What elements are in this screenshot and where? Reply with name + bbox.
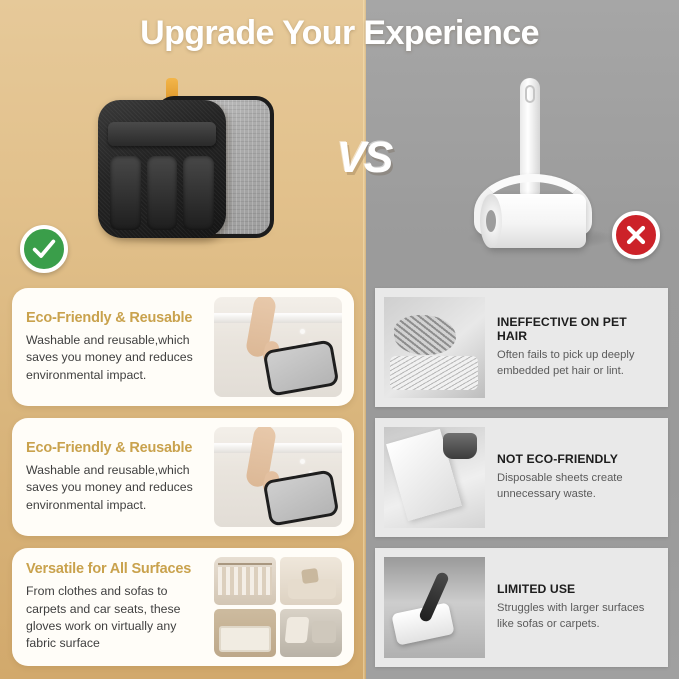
hero-image-glove	[92, 78, 276, 246]
roller-on-carpet-image	[384, 557, 485, 658]
clothes-rack-image	[214, 557, 276, 605]
check-icon	[20, 225, 68, 273]
glove-finger-pockets	[110, 156, 214, 230]
pro-card-body: Washable and reusable,which saves you mo…	[26, 332, 208, 384]
pros-card-list: Eco-Friendly & Reusable Washable and reu…	[12, 288, 354, 666]
rug-image	[214, 609, 276, 657]
comparison-infographic: Upgrade Your Experience VS	[0, 0, 679, 679]
pro-card-title: Eco-Friendly & Reusable	[26, 310, 208, 326]
con-card-text: LIMITED USE Struggles with larger surfac…	[485, 582, 659, 633]
roller-end-cap	[480, 194, 502, 248]
hero-image-lint-roller	[452, 78, 622, 254]
con-card-title: NOT ECO-FRIENDLY	[497, 452, 655, 466]
sofa-image	[280, 557, 342, 605]
con-card-body: Struggles with larger surfaces like sofa…	[497, 601, 655, 633]
glove-strap	[108, 122, 216, 146]
con-card-body: Disposable sheets create unnecessary was…	[497, 471, 655, 503]
vs-label: VS	[322, 133, 406, 183]
car-seats-image	[280, 609, 342, 657]
pro-card-title: Versatile for All Surfaces	[26, 561, 208, 577]
bubble	[300, 329, 305, 334]
mitt-in-water-image	[214, 427, 342, 527]
pro-card-text: Eco-Friendly & Reusable Washable and reu…	[26, 440, 214, 514]
con-card-text: INEFFECTIVE ON PET HAIR Often fails to p…	[485, 315, 659, 380]
waterline	[214, 313, 342, 323]
pro-card-text: Eco-Friendly & Reusable Washable and reu…	[26, 310, 214, 384]
pro-card-title: Eco-Friendly & Reusable	[26, 440, 208, 456]
waterline	[214, 443, 342, 453]
pro-card: Versatile for All Surfaces From clothes …	[12, 548, 354, 666]
roller-hang-loop	[525, 85, 535, 103]
con-card: LIMITED USE Struggles with larger surfac…	[375, 548, 668, 667]
mitt-in-water-image	[214, 297, 342, 397]
cat-on-fabric-image	[384, 297, 485, 398]
pro-card: Eco-Friendly & Reusable Washable and reu…	[12, 288, 354, 406]
pro-card: Eco-Friendly & Reusable Washable and reu…	[12, 418, 354, 536]
bubble	[300, 459, 305, 464]
con-card-title: INEFFECTIVE ON PET HAIR	[497, 315, 655, 343]
glove-black-body	[98, 100, 226, 238]
surface-collage-image	[214, 557, 342, 657]
pro-card-body: From clothes and sofas to carpets and ca…	[26, 583, 208, 653]
con-card-title: LIMITED USE	[497, 582, 655, 596]
pro-card-body: Washable and reusable,which saves you mo…	[26, 462, 208, 514]
con-card: INEFFECTIVE ON PET HAIR Often fails to p…	[375, 288, 668, 407]
con-card-body: Often fails to pick up deeply embedded p…	[497, 348, 655, 380]
disposable-sheet-image	[384, 427, 485, 528]
cons-card-list: INEFFECTIVE ON PET HAIR Often fails to p…	[375, 288, 668, 667]
cross-icon	[612, 211, 660, 259]
con-card: NOT ECO-FRIENDLY Disposable sheets creat…	[375, 418, 668, 537]
pro-card-text: Versatile for All Surfaces From clothes …	[26, 561, 214, 653]
page-title: Upgrade Your Experience	[0, 14, 679, 53]
con-card-text: NOT ECO-FRIENDLY Disposable sheets creat…	[485, 452, 659, 503]
